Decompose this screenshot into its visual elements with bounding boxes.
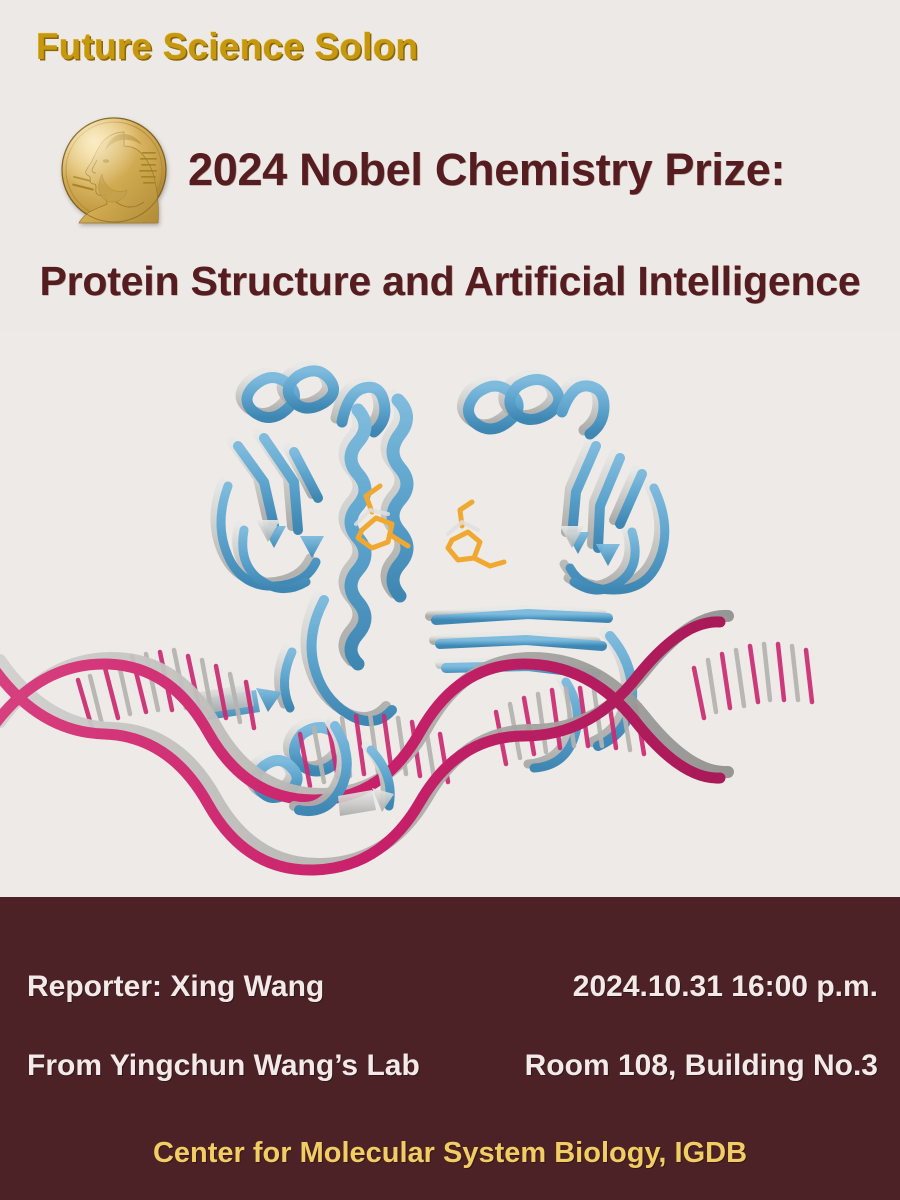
protein-dna-structure-image <box>0 330 900 895</box>
lab-label: From Yingchun Wang’s Lab <box>27 1049 420 1083</box>
page-title: 2024 Nobel Chemistry Prize: <box>188 144 785 196</box>
poster: Future Science Solon <box>0 0 900 1200</box>
event-location: Room 108, Building No.3 <box>525 1049 878 1083</box>
footer: Reporter: Xing Wang 2024.10.31 16:00 p.m… <box>0 897 900 1200</box>
organization-label: Center for Molecular System Biology, IGD… <box>0 1137 900 1170</box>
event-datetime: 2024.10.31 16:00 p.m. <box>573 970 878 1004</box>
reporter-label: Reporter: Xing Wang <box>27 970 324 1004</box>
footer-row-lab: From Yingchun Wang’s Lab Room 108, Build… <box>0 1049 900 1083</box>
poster-kicker: Future Science Solon <box>36 26 418 68</box>
page-subtitle: Protein Structure and Artificial Intelli… <box>0 258 900 305</box>
footer-row-reporter: Reporter: Xing Wang 2024.10.31 16:00 p.m… <box>0 970 900 1004</box>
nobel-medal-icon <box>60 116 168 224</box>
title-row: 2024 Nobel Chemistry Prize: <box>0 116 900 224</box>
